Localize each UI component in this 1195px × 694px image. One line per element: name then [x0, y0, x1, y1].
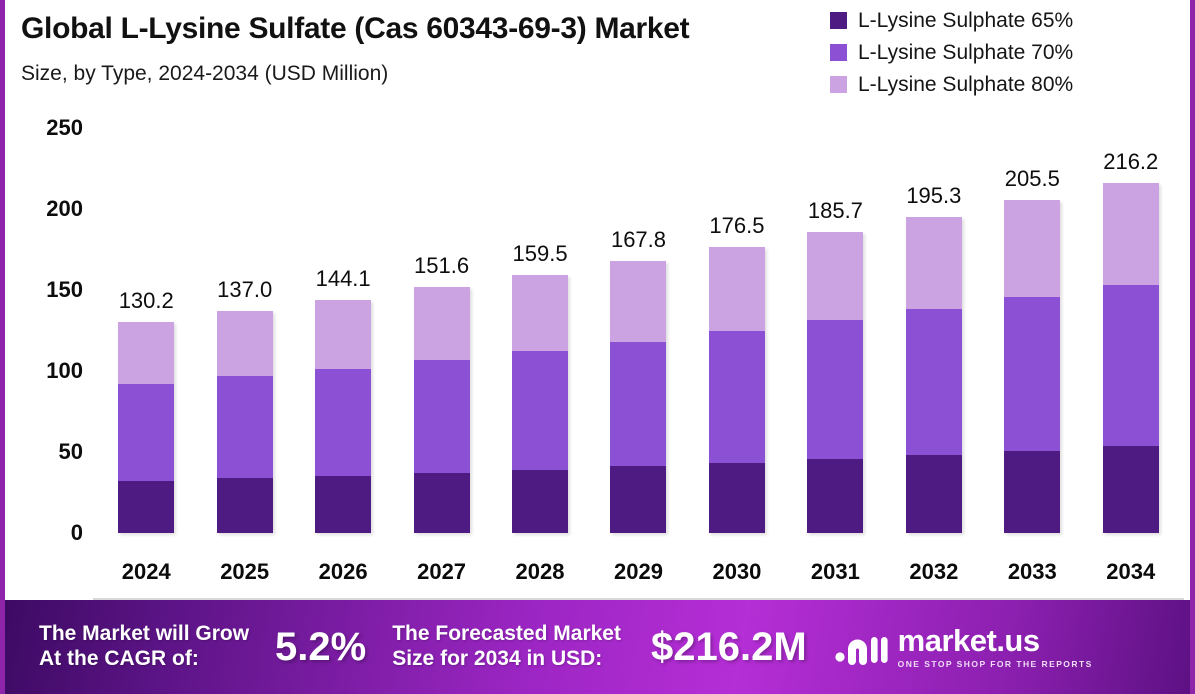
bar-segment[interactable]: [118, 481, 174, 533]
bar-total-label: 167.8: [611, 227, 666, 253]
bar-total-label: 137.0: [217, 277, 272, 303]
infographic-page: Global L-Lysine Sulfate (Cas 60343-69-3)…: [0, 0, 1195, 694]
bar-total-label: 151.6: [414, 253, 469, 279]
legend-item-label: L-Lysine Sulphate 70%: [858, 41, 1073, 65]
forecast-value: $216.2M: [651, 625, 807, 670]
stacked-bar[interactable]: [1004, 200, 1060, 533]
bar-segment[interactable]: [315, 300, 371, 369]
bar-segment[interactable]: [315, 476, 371, 534]
bar-segment[interactable]: [709, 247, 765, 331]
bar-group-2027[interactable]: 151.62027: [392, 112, 490, 600]
cagr-value: 5.2%: [275, 625, 366, 670]
bar-total-label: 205.5: [1005, 166, 1060, 192]
bar-total-label: 159.5: [513, 241, 568, 267]
bar-segment[interactable]: [610, 466, 666, 533]
bar-group-2025[interactable]: 137.02025: [195, 112, 293, 600]
x-axis-label: 2029: [614, 559, 663, 585]
bar-segment[interactable]: [709, 331, 765, 462]
legend-item[interactable]: L-Lysine Sulphate 80%: [830, 71, 1160, 98]
bar-segment[interactable]: [217, 478, 273, 533]
bar-total-label: 185.7: [808, 198, 863, 224]
bar-group-2033[interactable]: 205.52033: [983, 112, 1081, 600]
y-axis-tick-label: 50: [59, 439, 83, 465]
bar-segment[interactable]: [512, 470, 568, 534]
bar-segment[interactable]: [414, 360, 470, 472]
bar-group-2032[interactable]: 195.32032: [885, 112, 983, 600]
footer-banner: The Market will Grow At the CAGR of: 5.2…: [5, 600, 1190, 694]
stacked-bar[interactable]: [1103, 183, 1159, 533]
x-axis-label: 2024: [122, 559, 171, 585]
stacked-bar[interactable]: [512, 275, 568, 533]
bar-segment[interactable]: [315, 369, 371, 476]
bar-segment[interactable]: [217, 376, 273, 478]
market-us-logo-icon: [835, 627, 889, 667]
stacked-bar[interactable]: [217, 311, 273, 533]
x-axis-label: 2032: [909, 559, 958, 585]
market-us-logo[interactable]: market.us ONE STOP SHOP FOR THE REPORTS: [835, 625, 1093, 669]
bar-group-2028[interactable]: 159.52028: [491, 112, 589, 600]
forecast-label: The Forecasted Market Size for 2034 in U…: [392, 622, 621, 671]
bar-segment[interactable]: [512, 275, 568, 352]
stacked-bar[interactable]: [315, 300, 371, 533]
bar-segment[interactable]: [906, 455, 962, 533]
bar-segment[interactable]: [414, 473, 470, 533]
x-axis-label: 2028: [516, 559, 565, 585]
x-axis-label: 2026: [319, 559, 368, 585]
legend-swatch-icon: [830, 76, 847, 93]
forecast-label-line1: The Forecasted Market: [392, 622, 621, 645]
bar-segment[interactable]: [807, 320, 863, 459]
x-axis-label: 2033: [1008, 559, 1057, 585]
stacked-bar[interactable]: [414, 287, 470, 533]
bar-total-label: 195.3: [906, 183, 961, 209]
bar-group-2031[interactable]: 185.72031: [786, 112, 884, 600]
stacked-bar[interactable]: [906, 217, 962, 533]
bar-segment[interactable]: [1004, 200, 1060, 297]
bar-segment[interactable]: [610, 261, 666, 341]
cagr-label-line1: The Market will Grow: [39, 622, 249, 645]
bar-group-2026[interactable]: 144.12026: [294, 112, 392, 600]
bar-total-label: 144.1: [316, 266, 371, 292]
cagr-label: The Market will Grow At the CAGR of:: [39, 622, 249, 671]
x-axis-label: 2031: [811, 559, 860, 585]
bar-segment[interactable]: [1004, 297, 1060, 451]
bar-segment[interactable]: [512, 351, 568, 469]
legend-item[interactable]: L-Lysine Sulphate 70%: [830, 39, 1160, 66]
stacked-bar[interactable]: [807, 232, 863, 533]
bar-segment[interactable]: [807, 459, 863, 533]
bar-group-2024[interactable]: 130.22024: [97, 112, 195, 600]
y-axis-tick-label: 200: [46, 196, 83, 222]
logo-name: market.us: [898, 625, 1093, 656]
page-subtitle: Size, by Type, 2024-2034 (USD Million): [21, 62, 388, 86]
bar-total-label: 130.2: [119, 288, 174, 314]
stacked-bar[interactable]: [610, 261, 666, 533]
x-axis-label: 2034: [1106, 559, 1155, 585]
bar-segment[interactable]: [807, 232, 863, 320]
bar-segment[interactable]: [906, 309, 962, 455]
market-us-logo-text: market.us ONE STOP SHOP FOR THE REPORTS: [898, 625, 1093, 669]
stacked-bar[interactable]: [709, 247, 765, 533]
page-title: Global L-Lysine Sulfate (Cas 60343-69-3)…: [21, 12, 689, 46]
bar-group-2034[interactable]: 216.22034: [1082, 112, 1180, 600]
chart-plot-area: 050100150200250 130.22024137.02025144.12…: [5, 112, 1190, 600]
bar-segment[interactable]: [414, 287, 470, 360]
bar-segment[interactable]: [709, 463, 765, 533]
bar-segment[interactable]: [118, 384, 174, 481]
bar-segment[interactable]: [906, 217, 962, 310]
legend-item-label: L-Lysine Sulphate 65%: [858, 9, 1073, 33]
bar-segment[interactable]: [1004, 451, 1060, 533]
legend-swatch-icon: [830, 44, 847, 61]
bar-segment[interactable]: [610, 342, 666, 467]
x-axis-label: 2030: [712, 559, 761, 585]
forecast-label-line2: Size for 2034 in USD:: [392, 647, 602, 670]
bar-segment[interactable]: [1103, 183, 1159, 285]
chart-legend: L-Lysine Sulphate 65%L-Lysine Sulphate 7…: [830, 7, 1160, 103]
x-axis-label: 2027: [417, 559, 466, 585]
cagr-label-line2: At the CAGR of:: [39, 647, 199, 670]
bar-segment[interactable]: [1103, 446, 1159, 533]
y-axis-tick-label: 100: [46, 358, 83, 384]
bar-segment[interactable]: [1103, 285, 1159, 446]
bar-segment[interactable]: [118, 322, 174, 384]
logo-tagline: ONE STOP SHOP FOR THE REPORTS: [898, 659, 1093, 669]
x-axis-label: 2025: [220, 559, 269, 585]
legend-swatch-icon: [830, 12, 847, 29]
y-axis-tick-label: 250: [46, 115, 83, 141]
bar-group-2030[interactable]: 176.52030: [688, 112, 786, 600]
y-axis-tick-label: 0: [71, 520, 83, 546]
chart-header: Global L-Lysine Sulfate (Cas 60343-69-3)…: [5, 0, 1190, 112]
bar-group-2029[interactable]: 167.82029: [589, 112, 687, 600]
y-axis: 050100150200250: [5, 112, 93, 600]
bar-segment[interactable]: [217, 311, 273, 376]
y-axis-tick-label: 150: [46, 277, 83, 303]
legend-item[interactable]: L-Lysine Sulphate 65%: [830, 7, 1160, 34]
stacked-bar[interactable]: [118, 322, 174, 533]
bar-total-label: 176.5: [709, 213, 764, 239]
bar-total-label: 216.2: [1103, 149, 1158, 175]
legend-item-label: L-Lysine Sulphate 80%: [858, 73, 1073, 97]
bar-series-container: 130.22024137.02025144.12026151.62027159.…: [97, 112, 1180, 600]
